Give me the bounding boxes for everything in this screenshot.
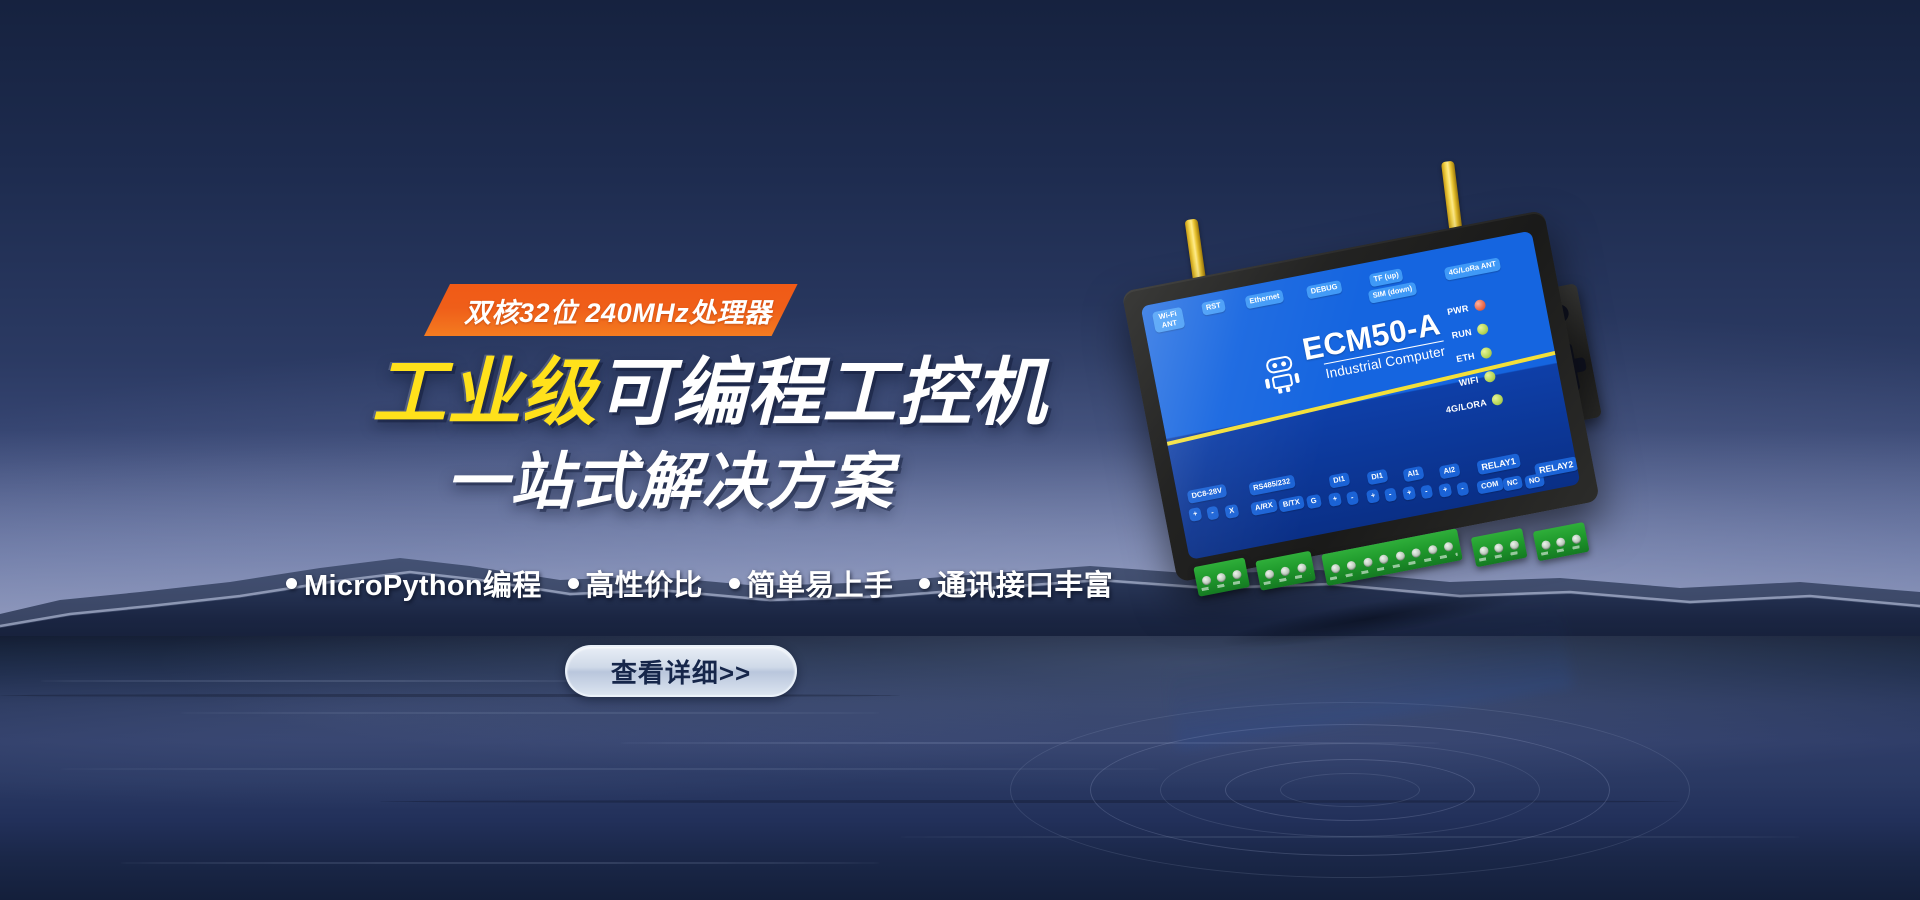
terminal-pin-relay1-nc: NC bbox=[1502, 475, 1523, 491]
port-label-debug: DEBUG bbox=[1306, 280, 1343, 299]
port-label-4g-lora-ant: 4G/LoRa ANT bbox=[1444, 257, 1501, 280]
terminal-pin-ai2-minus: - bbox=[1456, 482, 1469, 496]
port-label-wifi-ant: Wi-FiANT bbox=[1152, 307, 1186, 334]
product-banner: 双核32位 240MHz处理器 工业级可编程工控机 一站式解决方案 MicroP… bbox=[0, 0, 1920, 900]
terminal-pin-ai2-plus: + bbox=[1438, 483, 1453, 498]
led-label: RUN bbox=[1451, 326, 1473, 340]
terminal-pin-b-tx: B/TX bbox=[1278, 495, 1305, 512]
terminal-label-ai1: AI1 bbox=[1402, 466, 1424, 482]
view-details-button[interactable]: 查看详细>> bbox=[565, 645, 797, 697]
feature-label: 通讯接口丰富 bbox=[937, 562, 1113, 604]
led-indicator-icon bbox=[1491, 393, 1504, 406]
bullet-dot-icon bbox=[286, 578, 297, 589]
device-front-panel: ECM50-A Industrial Computer Wi-FiANT RST… bbox=[1141, 231, 1581, 560]
list-item: 简单易上手 bbox=[729, 562, 894, 604]
title-rest: 可编程工控机 bbox=[597, 351, 1047, 434]
list-item: 高性价比 bbox=[568, 562, 703, 604]
robot-icon bbox=[1261, 354, 1301, 396]
bullet-dot-icon bbox=[729, 578, 740, 589]
terminal-pin-dc-plus: + bbox=[1188, 507, 1203, 522]
terminal-pin-dc-minus: - bbox=[1206, 506, 1219, 520]
feature-label: 简单易上手 bbox=[747, 562, 894, 604]
bullet-dot-icon bbox=[919, 578, 930, 589]
terminal-pin-ai1-plus: + bbox=[1402, 486, 1417, 501]
terminal-pin-g: G bbox=[1306, 494, 1322, 509]
led-indicator-icon bbox=[1479, 347, 1492, 360]
page-subtitle: 一站式解决方案 bbox=[446, 452, 894, 514]
led-run: RUN bbox=[1451, 323, 1490, 341]
product-device: ECM50-A Industrial Computer Wi-FiANT RST… bbox=[1121, 210, 1604, 606]
led-indicator-icon bbox=[1483, 370, 1496, 383]
terminal-pin-relay1-com: COM bbox=[1476, 477, 1503, 494]
port-label-rst: RST bbox=[1201, 299, 1226, 316]
list-item: MicroPython编程 bbox=[286, 562, 542, 604]
view-details-label: 查看详细>> bbox=[611, 653, 751, 690]
terminal-pin-ai1-minus: - bbox=[1420, 485, 1433, 499]
port-label-ethernet: Ethernet bbox=[1245, 289, 1285, 309]
terminal-label-di1-a: DI1 bbox=[1328, 472, 1350, 488]
terminal-pin-di1b-minus: - bbox=[1384, 487, 1397, 501]
bullet-dot-icon bbox=[568, 578, 579, 589]
led-indicator-icon bbox=[1473, 299, 1486, 312]
terminal-label-relay2: RELAY2 bbox=[1534, 456, 1579, 478]
list-item: 通讯接口丰富 bbox=[919, 562, 1113, 604]
spec-ribbon: 双核32位 240MHz处理器 bbox=[424, 284, 798, 336]
led-label: PWR bbox=[1446, 303, 1469, 317]
terminal-pin-di1a-minus: - bbox=[1346, 491, 1359, 505]
feature-list: MicroPython编程 高性价比 简单易上手 通讯接口丰富 bbox=[286, 562, 1106, 604]
terminal-label-rs485: RS485/232 bbox=[1248, 475, 1295, 496]
led-label: ETH bbox=[1455, 350, 1475, 363]
feature-label: 高性价比 bbox=[586, 562, 703, 604]
led-label: WIFI bbox=[1458, 374, 1479, 388]
page-title: 工业级可编程工控机 bbox=[372, 356, 1047, 430]
terminal-label-relay1: RELAY1 bbox=[1476, 453, 1521, 475]
terminal-pin-di1a-plus: + bbox=[1328, 492, 1343, 507]
terminal-label-dc: DC8-28V bbox=[1187, 484, 1228, 504]
terminal-pin-di1b-plus: + bbox=[1366, 489, 1381, 504]
led-label: 4G/LORA bbox=[1445, 397, 1488, 415]
terminal-label-ai2: AI2 bbox=[1439, 463, 1461, 479]
led-indicator-icon bbox=[1476, 323, 1489, 336]
lora-antenna-icon bbox=[1441, 161, 1462, 232]
terminal-pin-dc-x: X bbox=[1224, 504, 1239, 519]
led-eth: ETH bbox=[1455, 347, 1492, 365]
terminal-label-di1-b: DI1 bbox=[1366, 469, 1388, 485]
feature-label: MicroPython编程 bbox=[304, 562, 542, 604]
led-pwr: PWR bbox=[1446, 299, 1486, 317]
wifi-antenna-icon bbox=[1185, 218, 1207, 281]
led-4g-lora: 4G/LORA bbox=[1445, 393, 1504, 415]
title-highlight: 工业级 bbox=[372, 351, 597, 434]
banner-copy: 双核32位 240MHz处理器 工业级可编程工控机 一站式解决方案 MicroP… bbox=[0, 0, 1150, 900]
spec-ribbon-text: 双核32位 240MHz处理器 bbox=[464, 291, 772, 330]
terminal-pin-a-rx: A/RX bbox=[1250, 498, 1278, 515]
